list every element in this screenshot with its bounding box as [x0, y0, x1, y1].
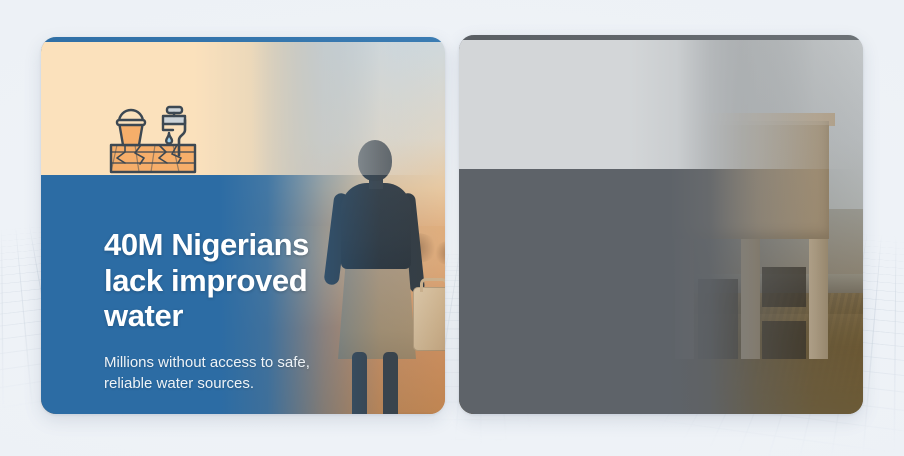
stat-card-water-access[interactable]: 40M Nigerians lack improved water Millio…: [41, 37, 445, 414]
card-subtitle: Millions without access to safe, reliabl…: [104, 352, 384, 395]
card-icon-row: [101, 95, 205, 182]
card-header-panel: [459, 35, 863, 169]
card-title: 40M Nigerians lack improved water: [104, 227, 384, 334]
card-accent-bar: [41, 37, 445, 42]
card-text-block: 40M Nigerians lack improved water Millio…: [104, 227, 384, 395]
bucket-tap-dry-ground-icon: [101, 95, 205, 182]
slide-canvas: 40M Nigerians lack improved water Millio…: [0, 0, 904, 456]
stat-card-infrastructure[interactable]: ~50% infrastructure non functional Half …: [459, 35, 863, 414]
card-accent-bar: [459, 35, 863, 40]
